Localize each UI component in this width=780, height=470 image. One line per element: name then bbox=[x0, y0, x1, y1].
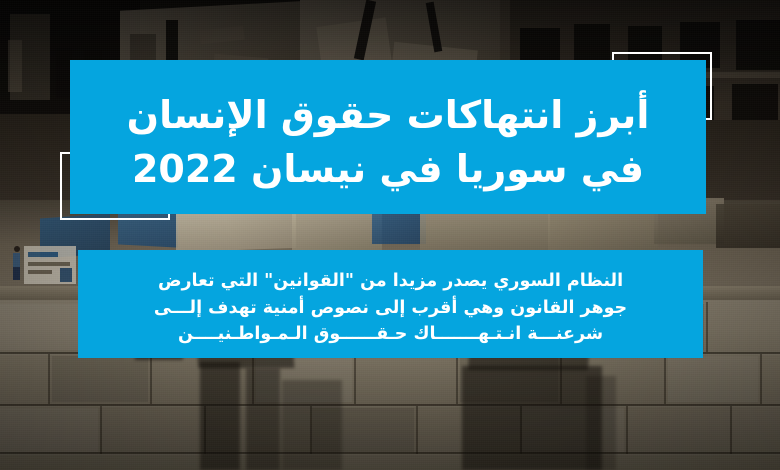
summary-banner: النظام السوري يصدر مزيدا من "القوانين" ا… bbox=[78, 250, 703, 358]
title-banner: أبرز انتهاكات حقوق الإنسان في سوريا في ن… bbox=[70, 60, 706, 214]
summary-line-2: جوهر القانون وهي أقرب إلى نصوص أمنية تهد… bbox=[154, 295, 627, 322]
poster: أبرز انتهاكات حقوق الإنسان في سوريا في ن… bbox=[0, 0, 780, 470]
title-line-2: في سوريا في نيسان 2022 bbox=[132, 143, 644, 197]
summary-line-1: النظام السوري يصدر مزيدا من "القوانين" ا… bbox=[158, 268, 623, 295]
summary-line-3: شرعنـــة انـتـهـــــــاك حـقــــــوق الـ… bbox=[178, 321, 603, 348]
title-line-1: أبرز انتهاكات حقوق الإنسان bbox=[127, 89, 650, 143]
